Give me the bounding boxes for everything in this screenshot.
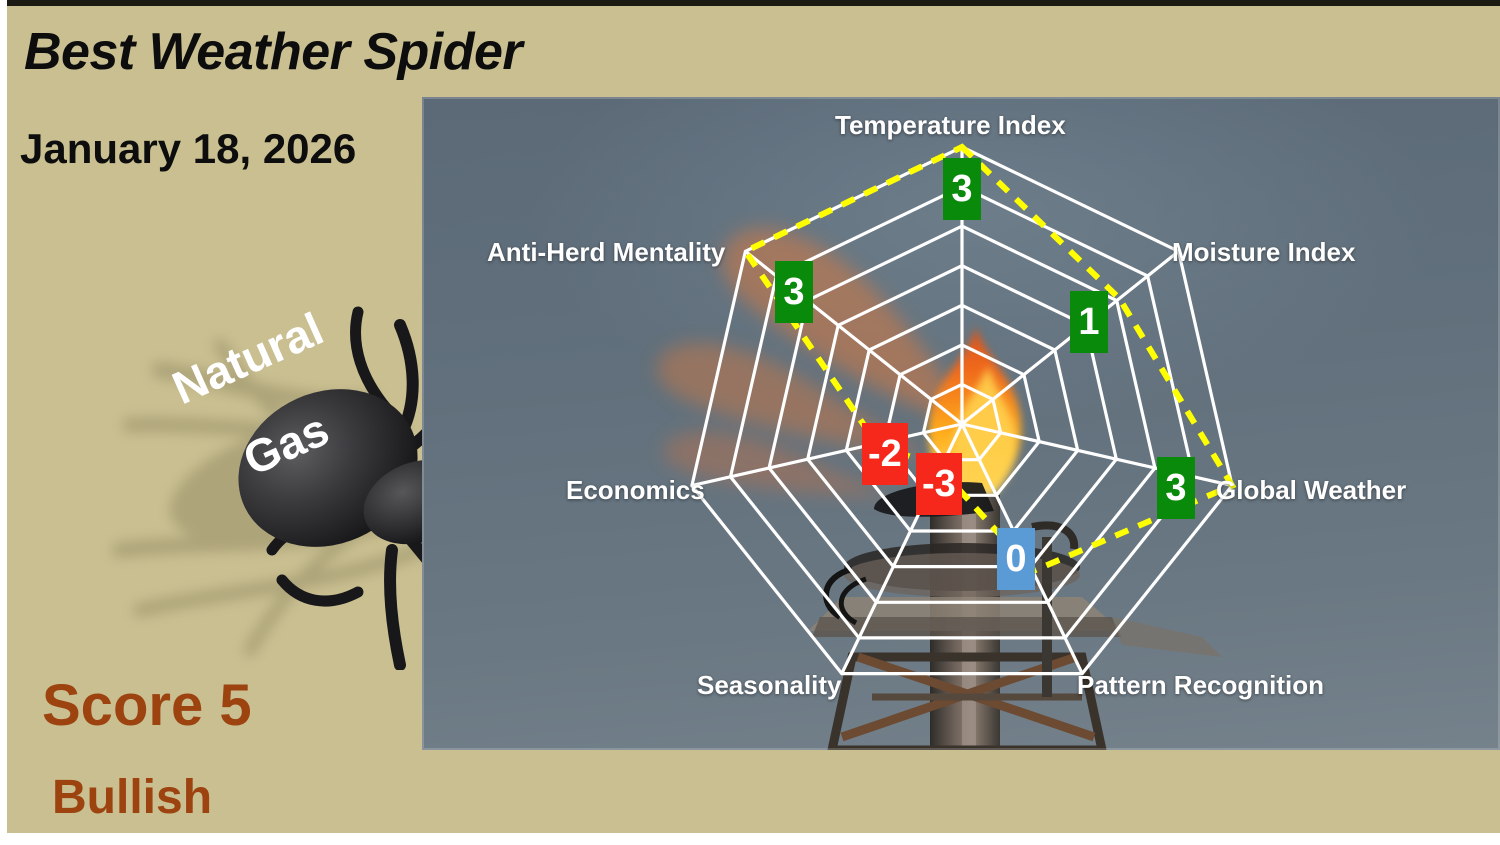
value-badge-anti-herd-mentality: 3 [775, 261, 813, 323]
page-date: January 18, 2026 [20, 125, 356, 173]
axis-label-anti-herd-mentality: Anti-Herd Mentality [487, 237, 725, 268]
value-badge-pattern-recognition: 0 [997, 528, 1035, 590]
axis-label-seasonality: Seasonality [697, 670, 842, 701]
page-title: Best Weather Spider [24, 22, 522, 82]
axis-label-moisture-index: Moisture Index [1172, 237, 1355, 268]
axis-label-economics: Economics [566, 475, 705, 506]
stance-text: Bullish [52, 770, 212, 825]
value-badge-seasonality: -3 [916, 453, 962, 515]
commodity-label: Natural Gas [105, 243, 429, 559]
bottom-divider [0, 833, 1500, 845]
left-divider [0, 0, 7, 845]
top-divider [0, 0, 1500, 6]
score-text: Score 5 [42, 672, 252, 739]
slide-root: Best Weather Spider January 18, 2026 Sco… [0, 0, 1500, 845]
axis-label-global-weather: Global Weather [1216, 475, 1406, 506]
value-badge-moisture-index: 1 [1070, 291, 1108, 353]
axis-label-pattern-recognition: Pattern Recognition [1077, 670, 1324, 701]
value-badge-global-weather: 3 [1157, 457, 1195, 519]
value-badge-economics: -2 [862, 423, 908, 485]
axis-label-temperature-index: Temperature Index [835, 110, 1066, 141]
value-badge-temperature-index: 3 [943, 158, 981, 220]
